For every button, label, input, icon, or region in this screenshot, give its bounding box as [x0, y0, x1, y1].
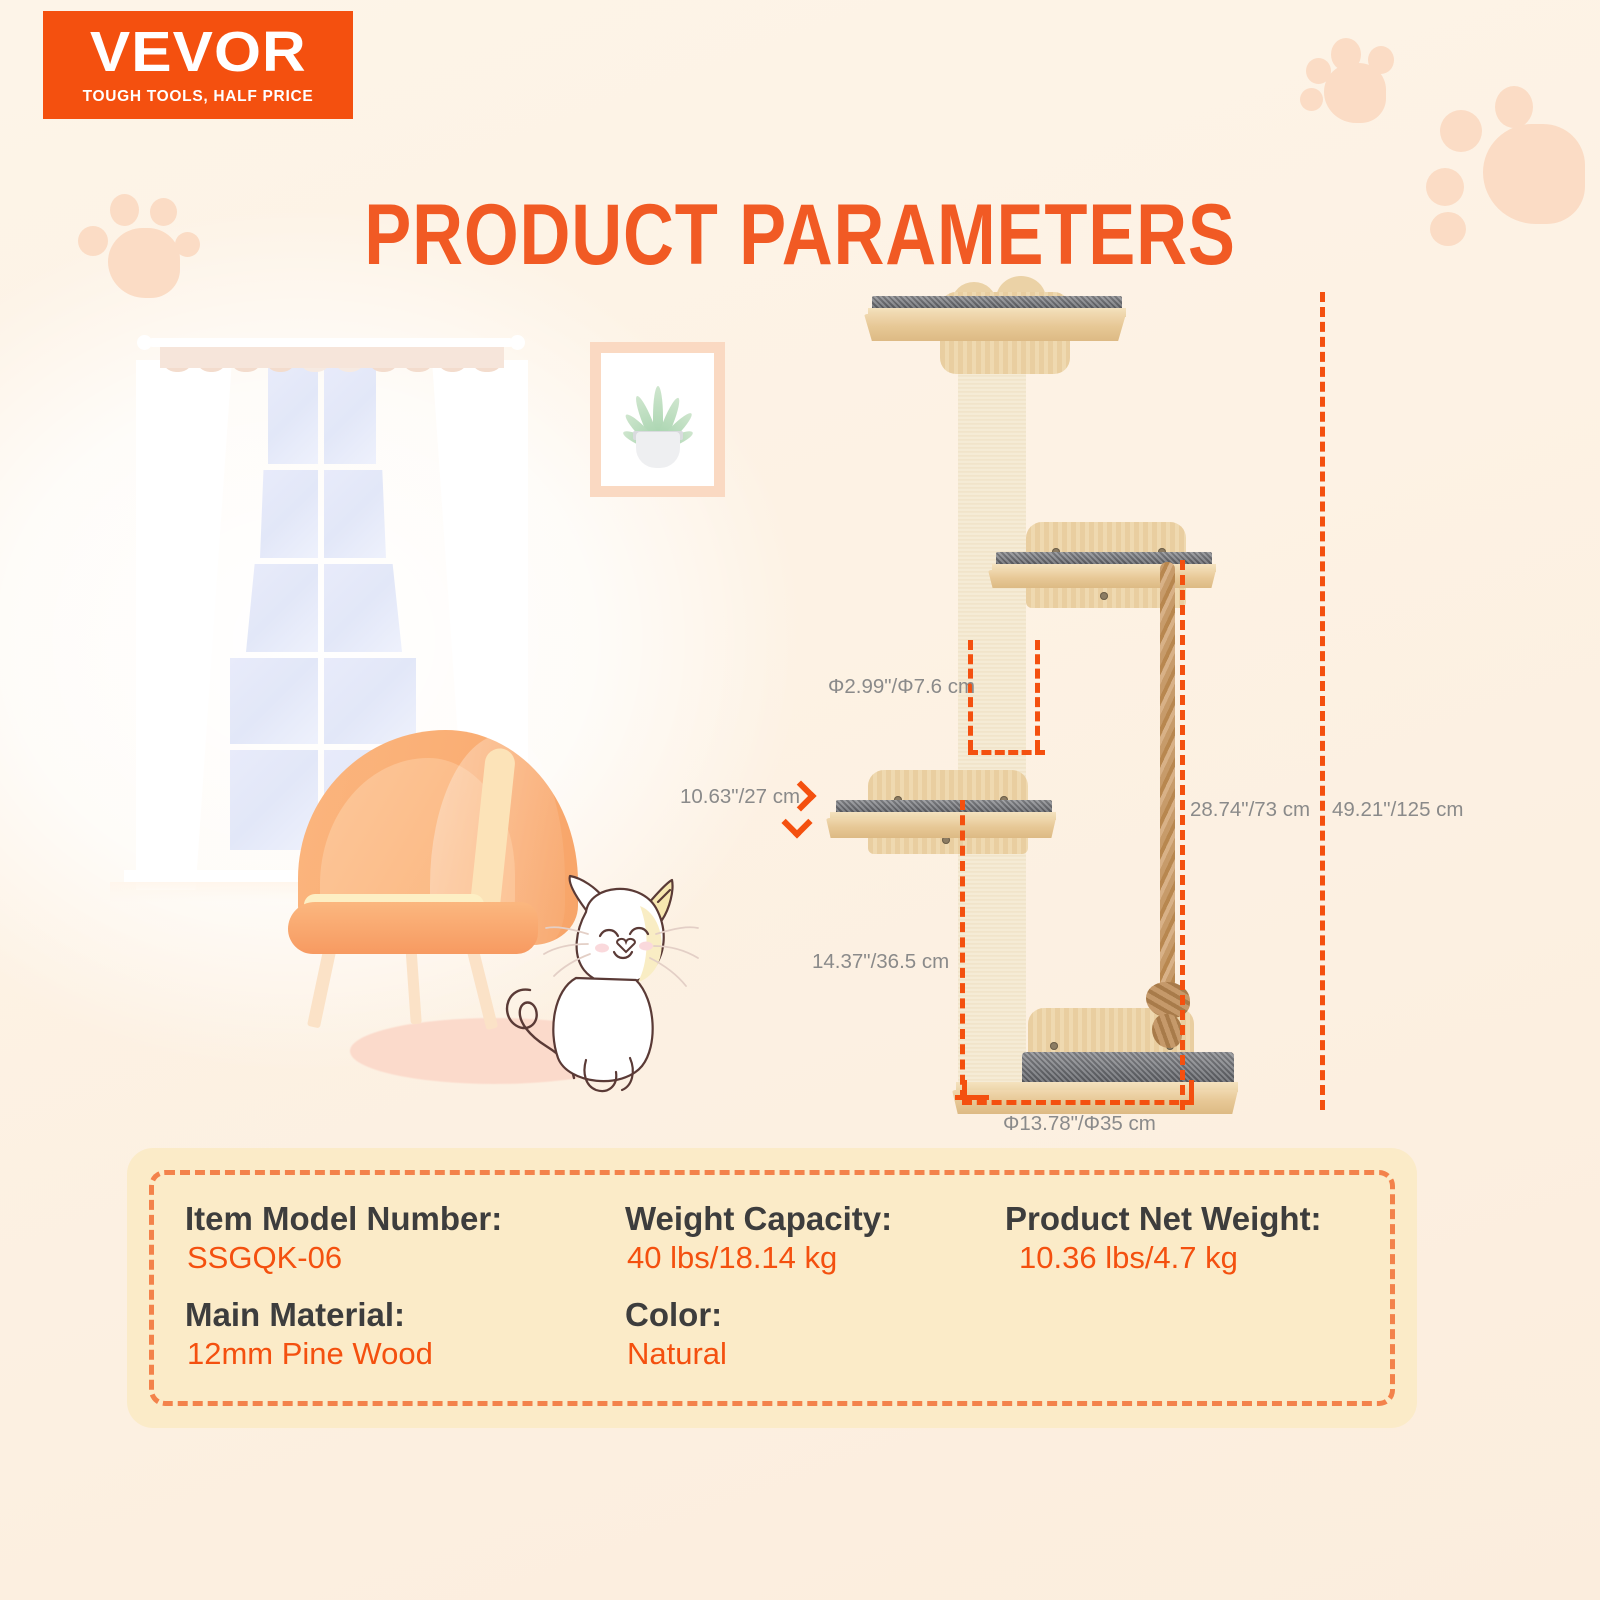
paw-print-icon — [1298, 30, 1418, 150]
spec-weight-capacity: Weight Capacity: 40 lbs/18.14 kg — [625, 1196, 1005, 1292]
spec-label: Main Material: — [185, 1296, 625, 1335]
specs-panel: Item Model Number: SSGQK-06 Weight Capac… — [127, 1148, 1417, 1428]
brand-name: VEVOR — [90, 24, 307, 81]
dimension-base-diameter-label: Φ13.78"/Φ35 cm — [1003, 1112, 1156, 1136]
dimension-mid-height-line — [1180, 560, 1185, 1110]
spec-empty-cell — [1005, 1292, 1377, 1388]
dimension-lower-height-label: 14.37"/36.5 cm — [812, 950, 949, 974]
dimension-post-diameter-bracket — [968, 640, 1040, 750]
dimension-base-diameter-tick-left — [962, 1080, 967, 1105]
spec-value: SSGQK-06 — [185, 1239, 625, 1278]
spec-value: 10.36 lbs/4.7 kg — [1005, 1239, 1377, 1278]
spec-label: Item Model Number: — [185, 1200, 625, 1239]
dimension-mid-height-label: 28.74"/73 cm — [1190, 798, 1310, 822]
room-scene-illustration — [120, 300, 740, 1100]
cat-illustration — [490, 860, 705, 1095]
specs-grid: Item Model Number: SSGQK-06 Weight Capac… — [185, 1196, 1377, 1388]
spec-label: Weight Capacity: — [625, 1200, 1005, 1239]
dimension-post-diameter-label: Φ2.99"/Φ7.6 cm — [828, 675, 975, 699]
spec-color: Color: Natural — [625, 1292, 1005, 1388]
spec-value: Natural — [625, 1335, 1005, 1374]
vevor-logo: VEVOR TOUGH TOOLS, HALF PRICE — [43, 11, 353, 119]
brand-tagline: TOUGH TOOLS, HALF PRICE — [83, 88, 314, 106]
spec-label: Product Net Weight: — [1005, 1200, 1377, 1239]
spec-value: 40 lbs/18.14 kg — [625, 1239, 1005, 1278]
curtain-rod — [148, 338, 514, 347]
dimension-base-diameter-tick-right — [1189, 1080, 1194, 1105]
dimension-total-height-label: 49.21"/125 cm — [1332, 798, 1464, 822]
spec-value: 12mm Pine Wood — [185, 1335, 625, 1374]
dimension-platform-depth-label: 10.63"/27 cm — [680, 785, 800, 809]
spec-product-net-weight: Product Net Weight: 10.36 lbs/4.7 kg — [1005, 1196, 1377, 1292]
dimension-base-diameter-line — [962, 1100, 1194, 1105]
dimension-lower-height-line — [960, 800, 965, 1100]
spec-label: Color: — [625, 1296, 1005, 1335]
framed-plant-picture — [590, 342, 725, 497]
spec-item-model-number: Item Model Number: SSGQK-06 — [185, 1196, 625, 1292]
spec-main-material: Main Material: 12mm Pine Wood — [185, 1292, 625, 1388]
cat-tree-product-image — [760, 270, 1320, 1140]
dimension-post-diameter-tick — [968, 750, 1045, 755]
dimension-total-height-line — [1320, 292, 1325, 1110]
